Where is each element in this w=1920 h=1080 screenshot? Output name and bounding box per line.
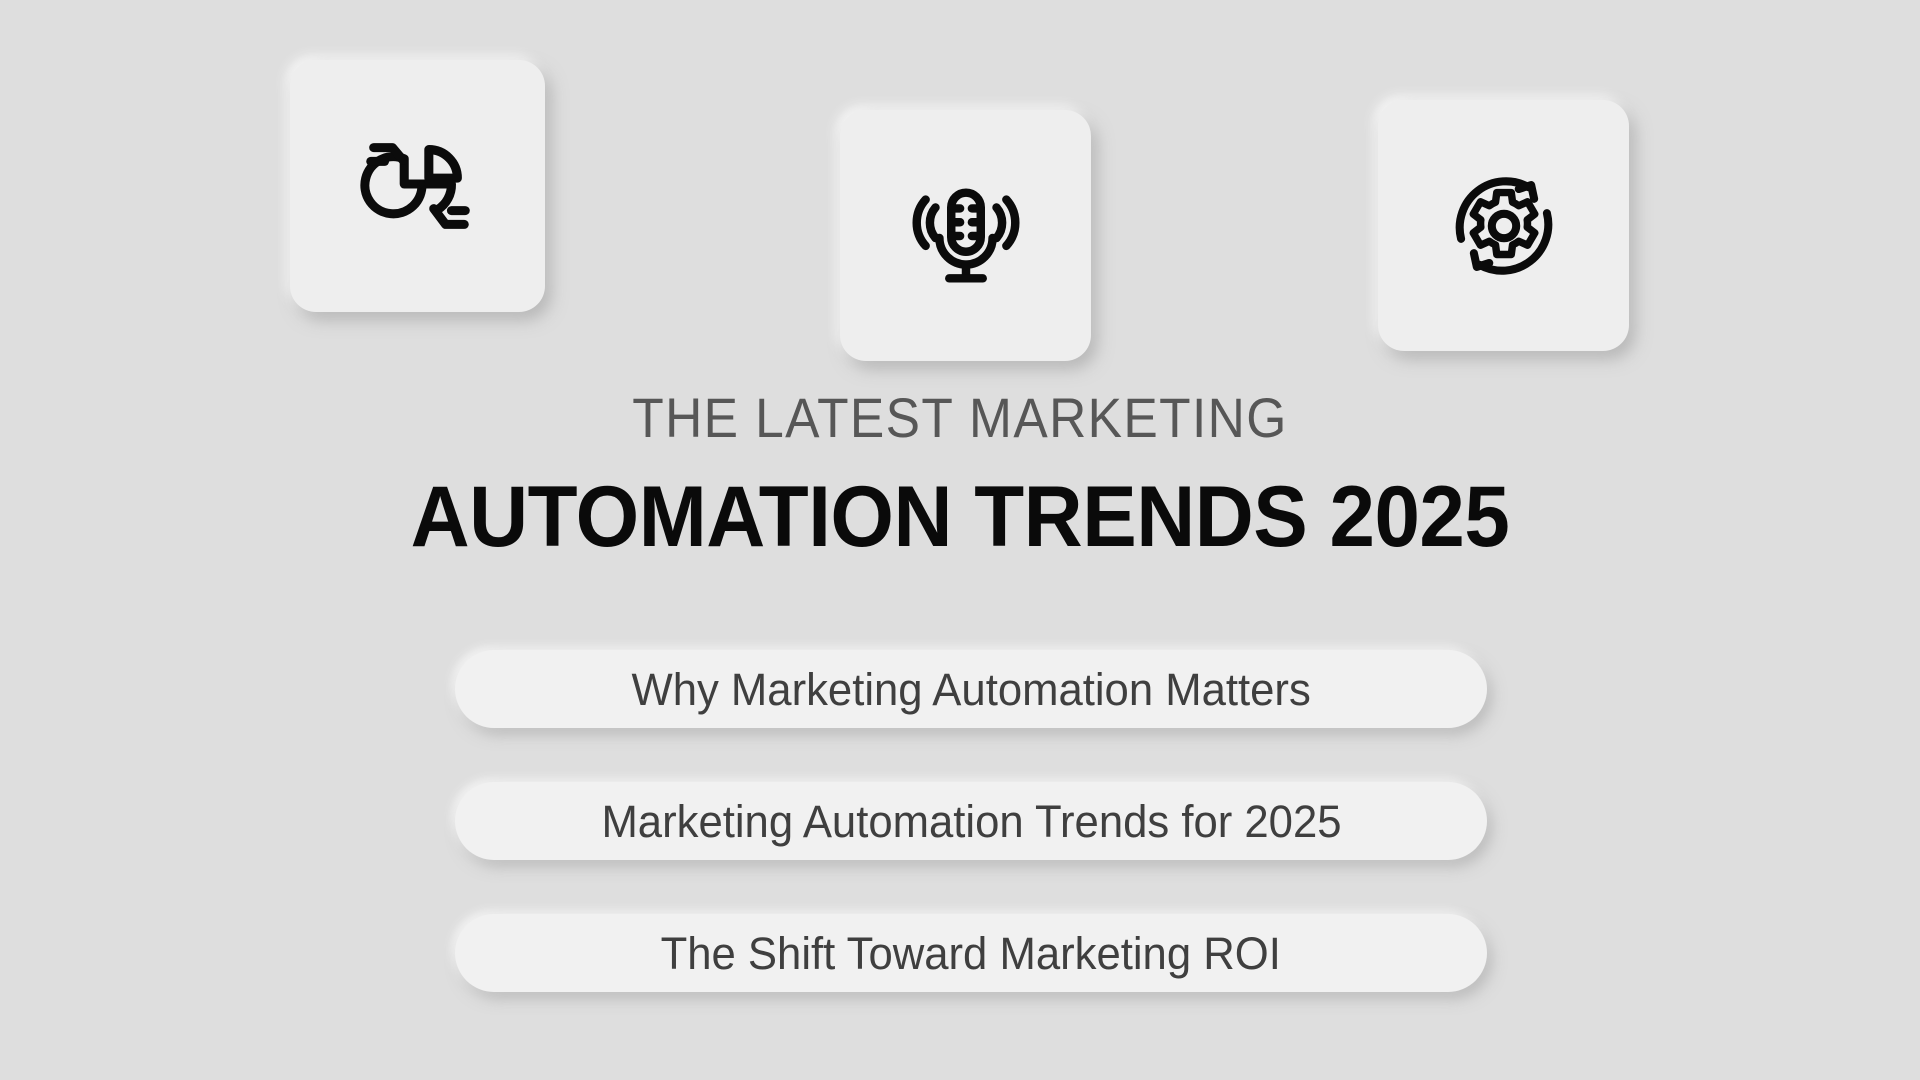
heading-block: THE LATEST MARKETING AUTOMATION TRENDS 2… bbox=[0, 390, 1920, 560]
gear-refresh-icon bbox=[1441, 163, 1567, 289]
topic-pill-1-label: Why Marketing Automation Matters bbox=[631, 667, 1310, 712]
icon-card-automation[interactable] bbox=[1378, 100, 1629, 351]
topic-pill-2[interactable]: Marketing Automation Trends for 2025 bbox=[455, 782, 1487, 860]
topic-pill-3[interactable]: The Shift Toward Marketing ROI bbox=[455, 914, 1487, 992]
microphone-icon bbox=[903, 173, 1029, 299]
icon-card-analytics[interactable] bbox=[290, 60, 545, 312]
topic-pill-1[interactable]: Why Marketing Automation Matters bbox=[455, 650, 1487, 728]
pie-chart-icon bbox=[355, 123, 481, 249]
topic-pill-2-label: Marketing Automation Trends for 2025 bbox=[601, 799, 1341, 844]
page-title: AUTOMATION TRENDS 2025 bbox=[48, 474, 1872, 560]
eyebrow-text: THE LATEST MARKETING bbox=[77, 390, 1843, 446]
topic-pill-3-label: The Shift Toward Marketing ROI bbox=[661, 931, 1281, 976]
icon-card-row bbox=[0, 60, 1920, 315]
topic-pill-list: Why Marketing Automation Matters Marketi… bbox=[455, 650, 1487, 992]
slide-canvas: THE LATEST MARKETING AUTOMATION TRENDS 2… bbox=[0, 0, 1920, 1080]
icon-card-podcast[interactable] bbox=[840, 110, 1091, 361]
